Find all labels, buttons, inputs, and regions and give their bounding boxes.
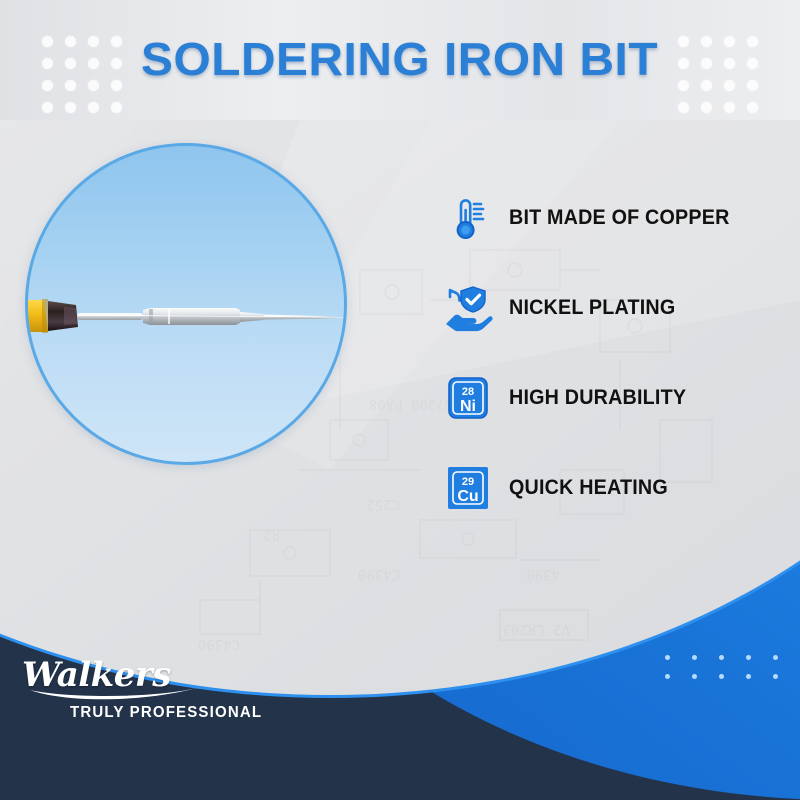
dot bbox=[773, 674, 778, 679]
brand-name: Walkers bbox=[22, 658, 272, 692]
dot bbox=[665, 674, 670, 679]
dot bbox=[746, 674, 751, 679]
feature-label: QUICK HEATING bbox=[509, 476, 668, 500]
feature-item: 29 Cu QUICK HEATING bbox=[443, 462, 783, 514]
feature-list: BIT MADE OF COPPER NICKEL PLATIN bbox=[443, 192, 783, 514]
element-number: 28 bbox=[462, 386, 474, 398]
brand-tagline: TRULY PROFESSIONAL bbox=[70, 704, 266, 722]
thermometer-icon bbox=[443, 193, 493, 243]
feature-item: BIT MADE OF COPPER bbox=[443, 192, 783, 244]
decorative-dot-grid-bottom bbox=[665, 655, 778, 679]
dot bbox=[746, 655, 751, 660]
dot bbox=[692, 655, 697, 660]
element-nickel-icon: 28 Ni bbox=[443, 373, 493, 423]
dot bbox=[692, 674, 697, 679]
element-symbol: Cu bbox=[457, 488, 478, 505]
product-image-circle bbox=[25, 143, 347, 465]
element-number: 29 bbox=[462, 476, 474, 488]
dot bbox=[665, 655, 670, 660]
feature-item: 28 Ni HIGH DURABILITY bbox=[443, 372, 783, 424]
feature-label: BIT MADE OF COPPER bbox=[509, 206, 730, 230]
feature-label: HIGH DURABILITY bbox=[509, 386, 686, 410]
hand-shield-check-icon bbox=[443, 283, 493, 333]
dot bbox=[719, 655, 724, 660]
feature-item: NICKEL PLATING bbox=[443, 282, 783, 334]
page-title: SOLDERING IRON BIT bbox=[141, 32, 658, 86]
dot bbox=[719, 674, 724, 679]
brand-logo: Walkers TRULY PROFESSIONAL bbox=[22, 658, 272, 722]
header-banner: SOLDERING IRON BIT bbox=[0, 0, 800, 118]
infographic-canvas: C4390 R2 C252 V2 LR20J 4390 PAN7200 PA08… bbox=[0, 0, 800, 800]
soldering-iron-illustration bbox=[25, 286, 347, 346]
element-copper-icon: 29 Cu bbox=[443, 463, 493, 513]
element-symbol: Ni bbox=[460, 398, 476, 415]
feature-label: NICKEL PLATING bbox=[509, 296, 675, 320]
dot bbox=[773, 655, 778, 660]
